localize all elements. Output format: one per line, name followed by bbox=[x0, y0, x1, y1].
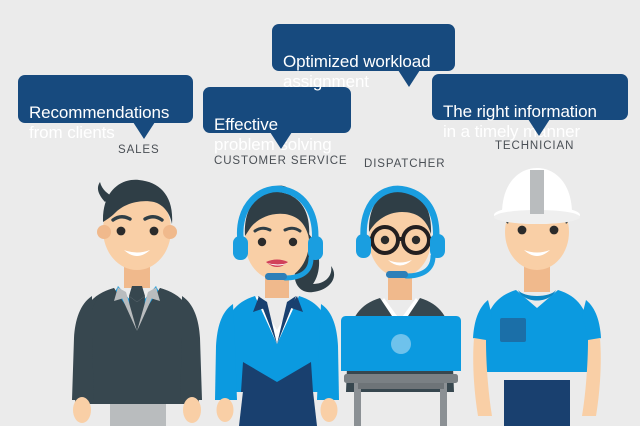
speech-bubble-timely-info: The right information in a timely manner bbox=[432, 74, 628, 120]
speech-bubble-recommendations: Recommendations from clients bbox=[18, 75, 193, 123]
bubble-tail-icon bbox=[133, 122, 155, 139]
speech-bubble-workload: Optimized workload assignment bbox=[272, 24, 455, 71]
figure-sales bbox=[62, 168, 212, 426]
speech-bubble-problem-solving: Effective problem solving bbox=[203, 87, 351, 133]
bubble-tail-icon bbox=[270, 132, 292, 149]
speech-bubble-text: The right information in a timely manner bbox=[443, 102, 597, 142]
infographic-canvas: SALES CUSTOMER SERVICE DISPATCHER TECHNI… bbox=[0, 0, 640, 426]
bubble-tail-icon bbox=[398, 70, 420, 87]
role-label-sales: SALES bbox=[118, 144, 160, 156]
figure-dispatcher bbox=[328, 178, 474, 426]
sales-person-illustration bbox=[62, 168, 212, 426]
role-label-dispatcher: DISPATCHER bbox=[364, 158, 445, 170]
role-label-customer-service: CUSTOMER SERVICE bbox=[214, 155, 347, 167]
figure-technician bbox=[462, 166, 612, 426]
bubble-tail-icon bbox=[528, 119, 550, 136]
technician-person-illustration bbox=[462, 166, 612, 426]
dispatcher-person-illustration bbox=[328, 178, 474, 426]
